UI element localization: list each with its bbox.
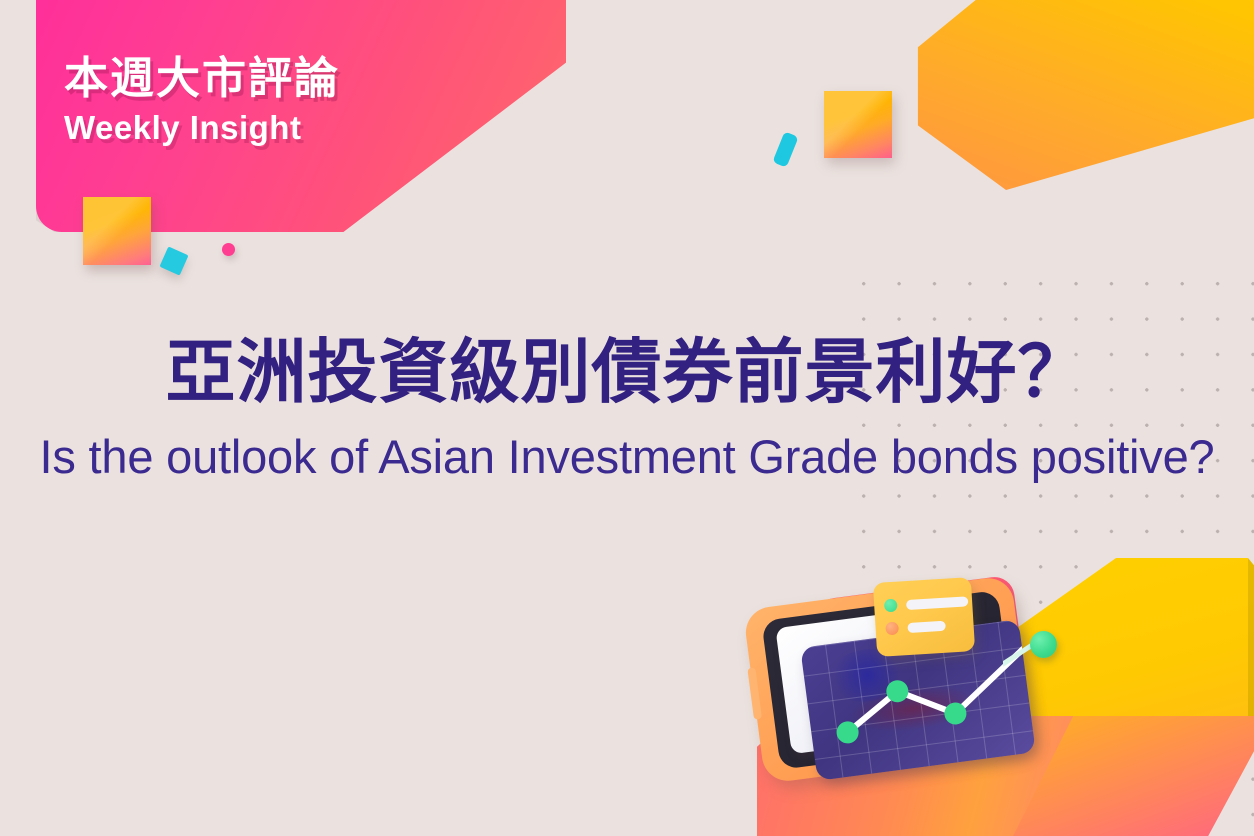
badge-title-cn: 本週大市評論	[64, 56, 484, 102]
orange-square-top-icon	[824, 91, 892, 158]
notification-card	[873, 577, 975, 657]
phone-button-icon	[747, 667, 762, 720]
green-status-dot-icon	[884, 599, 898, 613]
cyan-diamond-icon	[159, 246, 188, 275]
badge-text-block: 本週大市評論 Weekly Insight	[64, 56, 484, 147]
badge-title-en: Weekly Insight	[64, 109, 484, 147]
notification-bar-short	[907, 620, 946, 632]
headline-title-cn: 亞洲投資級別債券前景利好？	[0, 336, 1254, 409]
cyan-sliver-icon	[772, 131, 798, 167]
orange-status-dot-icon	[885, 622, 899, 636]
notification-row	[885, 619, 946, 636]
orange-square-icon	[83, 197, 151, 265]
notification-bar-long	[906, 596, 968, 610]
chart-node-final	[1030, 631, 1057, 658]
banner-canvas: 本週大市評論 Weekly Insight 亞洲投資級別債券前景利好？ Is t…	[0, 0, 1254, 836]
headline-block: 亞洲投資級別債券前景利好？ Is the outlook of Asian In…	[0, 336, 1254, 484]
headline-title-en: Is the outlook of Asian Investment Grade…	[0, 429, 1254, 484]
pink-dot-icon	[222, 243, 235, 256]
mobile-analytics-illustration	[735, 540, 1254, 836]
yellow-diagonal-bar	[905, 0, 1254, 190]
notification-row	[884, 594, 969, 612]
